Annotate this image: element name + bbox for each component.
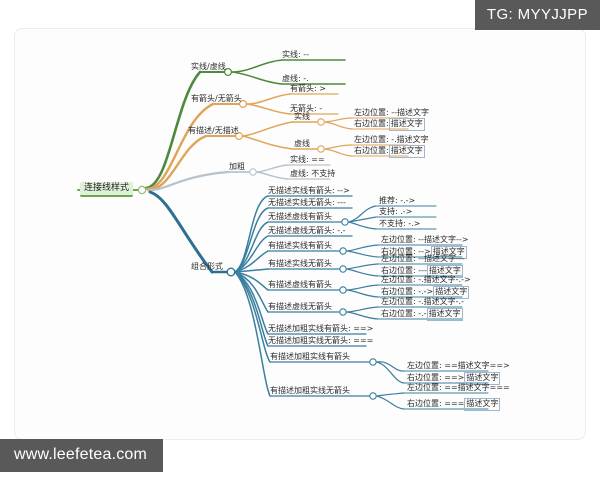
node-label: 有描述虚线有箭头: [267, 280, 333, 291]
node-label: 虚线: 不支持: [289, 169, 336, 180]
node-label-prefix: 右边位置: -.-: [380, 309, 428, 320]
telegram-badge: TG: MYYJJPP: [475, 0, 600, 30]
node-label-prefix: 右边位置: ===: [406, 399, 465, 410]
node-label: 实线: --: [281, 50, 310, 61]
site-watermark: www.leefetea.com: [0, 439, 163, 472]
node-label: 左边位置: ==描述文字===: [406, 383, 511, 394]
mindmap-root-node[interactable]: 连接线样式: [80, 182, 133, 197]
mindmap-node-combo-2-supported[interactable]: 支持: .->: [378, 207, 413, 218]
mindmap-node-combo-2[interactable]: 无描述虚线有箭头: [267, 212, 333, 223]
node-label: 左边位置: -.描述文字: [353, 135, 430, 146]
mindmap-node-combo-5-left[interactable]: 左边位置: --描述文字---: [380, 254, 466, 265]
mindmap-node-combo-11-right[interactable]: 右边位置: ===描述文字: [406, 399, 499, 410]
mindmap-node-combo-10[interactable]: 有描述加粗实线有箭头: [269, 352, 351, 363]
node-label-boxed: 描述文字: [428, 309, 462, 320]
node-label: 支持: .->: [378, 207, 413, 218]
node-label: 有箭头: >: [289, 84, 327, 95]
mindmap-node-desc-nodesc[interactable]: 有描述/无描述: [187, 126, 240, 137]
node-label: 左边位置: --描述文字: [353, 108, 430, 119]
node-label: 加粗: [228, 162, 246, 173]
mindmap-node-combo-8[interactable]: 无描述加粗实线有箭头: ==>: [267, 324, 374, 335]
mindmap-node-combo-11[interactable]: 有描述加粗实线无箭头: [269, 386, 351, 397]
node-label: 组合形式: [190, 262, 224, 273]
node-label: 无描述加粗实线有箭头: ==>: [267, 324, 374, 335]
mindmap-node-arrow-syntax[interactable]: 有箭头: >: [289, 84, 327, 95]
node-label: 有描述加粗实线有箭头: [269, 352, 351, 363]
node-label: 左边位置: ==描述文字==>: [406, 361, 511, 372]
mindmap-node-bold-dashed[interactable]: 虚线: 不支持: [289, 169, 336, 180]
mindmap-node-bold-solid[interactable]: 实线: ==: [289, 155, 326, 166]
node-label: 有描述实线无箭头: [267, 259, 333, 270]
root-label: 连接线样式: [83, 183, 130, 194]
mindmap-node-desc-solid-right[interactable]: 右边位置: 描述文字: [353, 119, 424, 130]
node-label-boxed: 描述文字: [465, 399, 499, 410]
node-label: 有箭头/无箭头: [190, 94, 243, 105]
mindmap-node-solid-dashed[interactable]: 实线/虚线: [190, 62, 227, 73]
node-label: 有描述加粗实线无箭头: [269, 386, 351, 397]
mindmap-node-solid-syntax[interactable]: 实线: --: [281, 50, 310, 61]
mindmap-screenshot: 连接线样式 实线/虚线 实线: -- 虚线: -. 有箭头/无箭头 有箭头: >…: [0, 0, 600, 480]
mindmap-node-bold[interactable]: 加粗: [228, 162, 246, 173]
node-label-boxed: 描述文字: [390, 119, 424, 130]
node-label-boxed: 描述文字: [390, 146, 424, 157]
node-label-prefix: 右边位置:: [353, 146, 390, 157]
mindmap-node-combo-2-unsupported[interactable]: 不支持: -.>: [378, 219, 421, 230]
node-label: 左边位置: -.描述文字-.-: [380, 297, 465, 308]
node-label: 无描述虚线有箭头: [267, 212, 333, 223]
mindmap-node-desc-dashed-left[interactable]: 左边位置: -.描述文字: [353, 135, 430, 146]
mindmap-node-combo-10-left[interactable]: 左边位置: ==描述文字==>: [406, 361, 511, 372]
mindmap-node-combo-1[interactable]: 无描述实线无箭头: ---: [267, 198, 347, 209]
mindmap-node-combo-7[interactable]: 有描述虚线无箭头: [267, 302, 333, 313]
node-label: 无描述实线无箭头: ---: [267, 198, 347, 209]
mindmap-node-desc-solid[interactable]: 实线: [293, 112, 311, 123]
node-label: 有描述虚线无箭头: [267, 302, 333, 313]
node-label: 推荐: -.->: [378, 196, 416, 207]
mindmap-node-combo-6[interactable]: 有描述虚线有箭头: [267, 280, 333, 291]
mindmap-node-desc-dashed[interactable]: 虚线: [293, 139, 311, 150]
mindmap-node-combo-0[interactable]: 无描述实线有箭头: -->: [267, 186, 351, 197]
node-label: 左边位置: --描述文字---: [380, 254, 466, 265]
node-label: 虚线: [293, 139, 311, 150]
node-label: 无描述加粗实线无箭头: ===: [267, 336, 374, 347]
mindmap-node-combo-7-left[interactable]: 左边位置: -.描述文字-.-: [380, 297, 465, 308]
mindmap-node-combo-7-right[interactable]: 右边位置: -.-描述文字: [380, 309, 462, 320]
mindmap-node-combo-9[interactable]: 无描述加粗实线无箭头: ===: [267, 336, 374, 347]
mindmap-node-combo-5[interactable]: 有描述实线无箭头: [267, 259, 333, 270]
mindmap-node-combo-4-left[interactable]: 左边位置: --描述文字-->: [380, 235, 470, 246]
node-label: 实线: [293, 112, 311, 123]
node-label: 不支持: -.>: [378, 219, 421, 230]
node-label: 左边位置: -.描述文字-.->: [380, 275, 472, 286]
node-label: 左边位置: --描述文字-->: [380, 235, 470, 246]
mindmap-node-combo-4[interactable]: 有描述实线有箭头: [267, 241, 333, 252]
node-label-prefix: 右边位置:: [353, 119, 390, 130]
mindmap-node-combo-11-left[interactable]: 左边位置: ==描述文字===: [406, 383, 511, 394]
mindmap-node-desc-solid-left[interactable]: 左边位置: --描述文字: [353, 108, 430, 119]
node-label: 实线: ==: [289, 155, 326, 166]
mindmap-node-combo-2-recommended[interactable]: 推荐: -.->: [378, 196, 416, 207]
mindmap-node-combo-3[interactable]: 无描述虚线无箭头: -.-: [267, 226, 347, 237]
node-label: 无描述实线有箭头: -->: [267, 186, 351, 197]
mindmap-node-combinations[interactable]: 组合形式: [190, 262, 224, 273]
mindmap-node-arrow-noarrow[interactable]: 有箭头/无箭头: [190, 94, 243, 105]
node-label: 实线/虚线: [190, 62, 227, 73]
mindmap-node-combo-6-left[interactable]: 左边位置: -.描述文字-.->: [380, 275, 472, 286]
node-label: 有描述实线有箭头: [267, 241, 333, 252]
mindmap-node-desc-dashed-right[interactable]: 右边位置: 描述文字: [353, 146, 424, 157]
node-label: 无描述虚线无箭头: -.-: [267, 226, 347, 237]
node-label: 有描述/无描述: [187, 126, 240, 137]
